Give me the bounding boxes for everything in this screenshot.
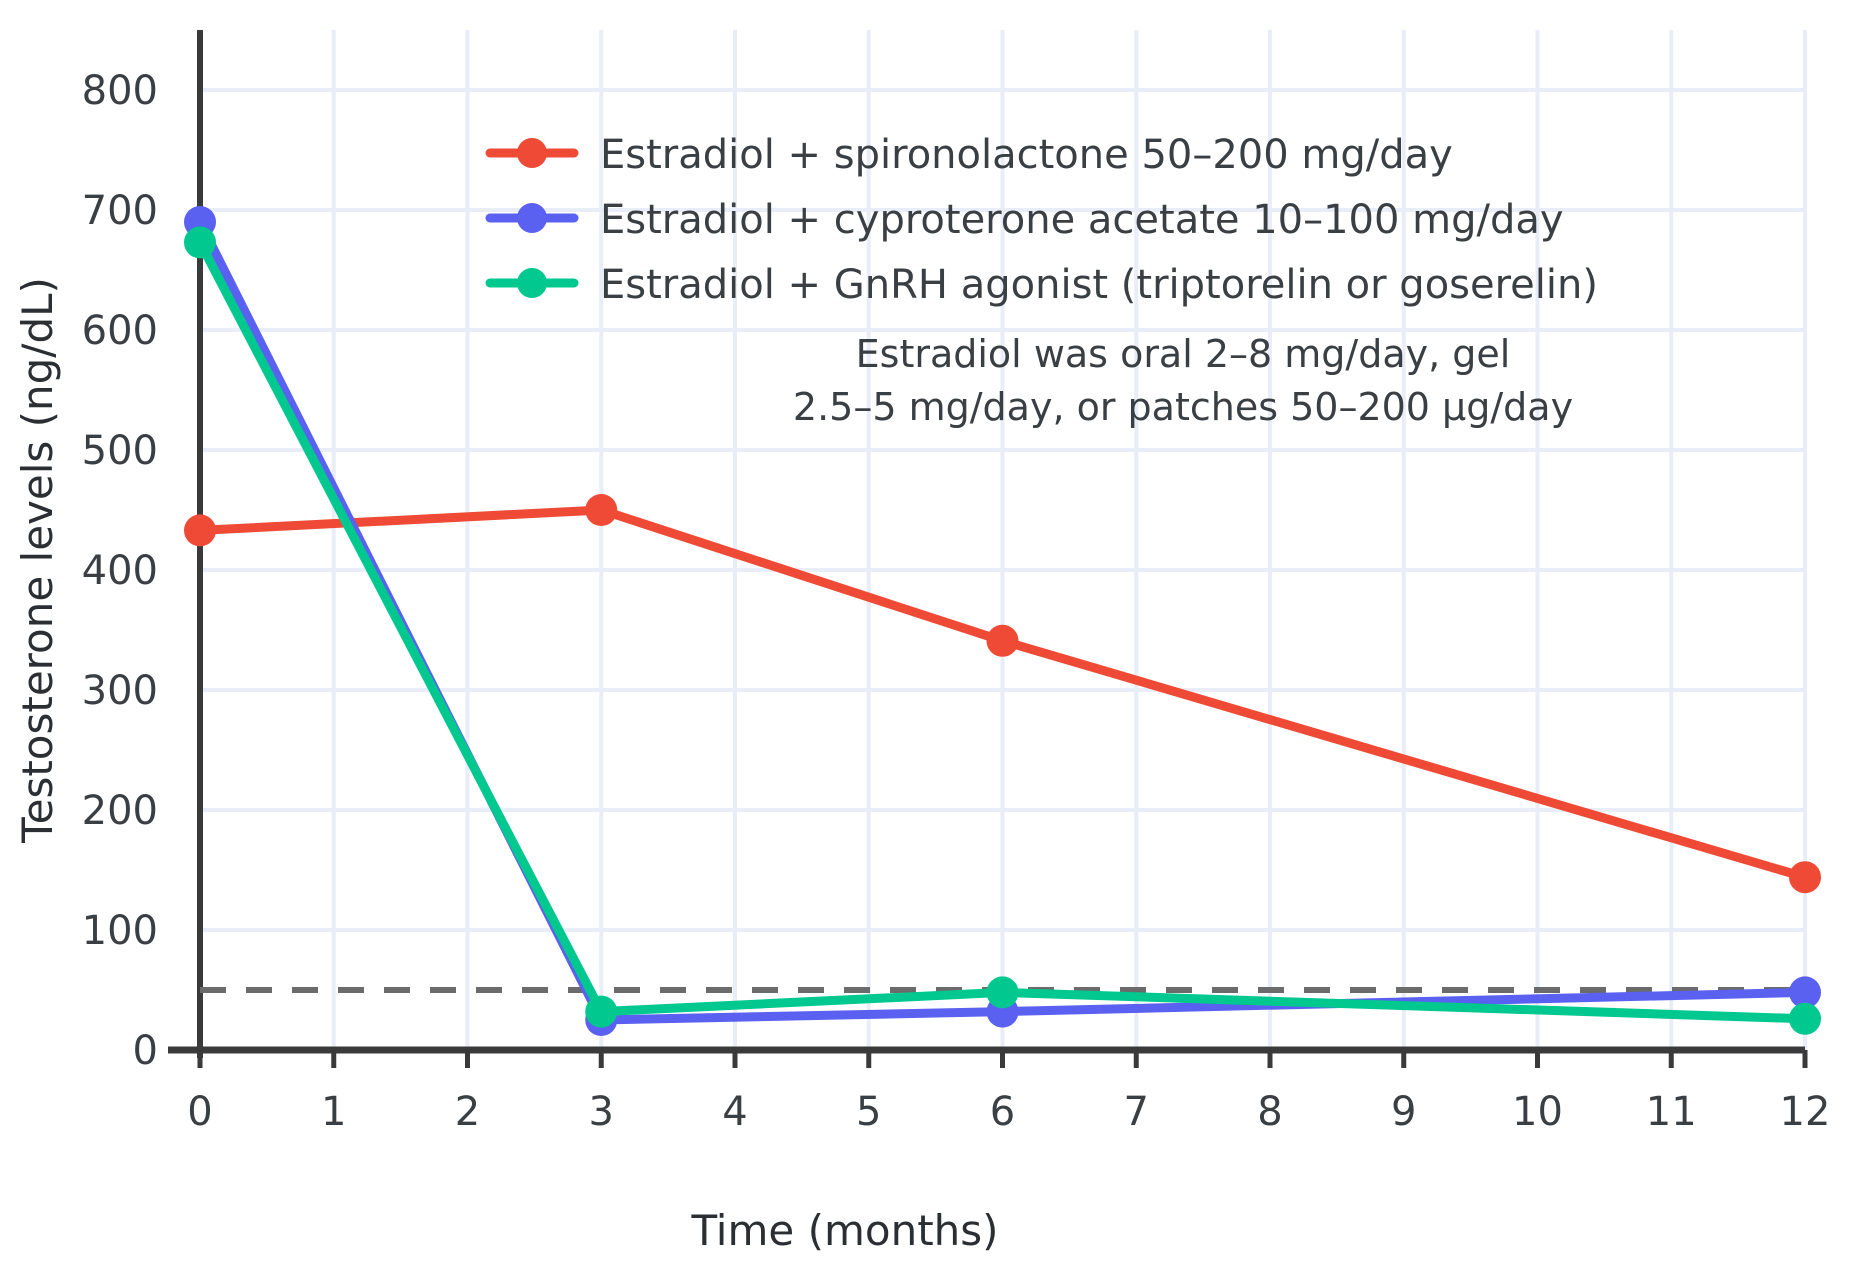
- y-tick-label: 800: [82, 68, 158, 114]
- x-tick-label: 6: [990, 1089, 1015, 1135]
- x-tick-label: 7: [1124, 1089, 1149, 1135]
- testosterone-line-chart: 0100200300400500600700800 01234567891011…: [0, 0, 1856, 1284]
- legend-swatch-marker-0: [517, 138, 547, 168]
- data-point-marker: [585, 494, 617, 526]
- legend-swatch-marker-1: [517, 203, 547, 233]
- x-tick-label: 11: [1646, 1089, 1697, 1135]
- y-tick-label: 600: [82, 308, 158, 354]
- legend-swatch-marker-2: [517, 268, 547, 298]
- x-tick-label: 0: [187, 1089, 212, 1135]
- data-point-marker: [987, 976, 1019, 1008]
- chart-legend: Estradiol + spironolactone 50–200 mg/day…: [490, 132, 1598, 308]
- x-tick-label: 9: [1391, 1089, 1416, 1135]
- data-point-marker: [184, 226, 216, 258]
- chart-background: [0, 0, 1856, 1284]
- y-tick-label: 400: [82, 548, 158, 594]
- legend-label-0: Estradiol + spironolactone 50–200 mg/day: [600, 132, 1453, 178]
- x-axis-title: Time (months): [690, 1206, 998, 1255]
- y-tick-label: 200: [82, 788, 158, 834]
- annotation-line-2: 2.5–5 mg/day, or patches 50–200 µg/day: [793, 385, 1573, 429]
- data-point-marker: [1789, 861, 1821, 893]
- data-point-marker: [987, 625, 1019, 657]
- x-tick-label: 12: [1780, 1089, 1831, 1135]
- data-point-marker: [585, 996, 617, 1028]
- x-tick-label: 10: [1512, 1089, 1563, 1135]
- data-point-marker: [184, 514, 216, 546]
- data-point-marker: [1789, 1003, 1821, 1035]
- y-axis-title: Testosterone levels (ng/dL): [13, 277, 62, 844]
- annotation-line-1: Estradiol was oral 2–8 mg/day, gel: [856, 332, 1511, 376]
- y-tick-label: 100: [82, 908, 158, 954]
- y-tick-label: 300: [82, 668, 158, 714]
- legend-label-1: Estradiol + cyproterone acetate 10–100 m…: [600, 197, 1564, 243]
- x-tick-label: 1: [321, 1089, 346, 1135]
- x-tick-label: 4: [722, 1089, 747, 1135]
- x-tick-label: 5: [856, 1089, 881, 1135]
- chart-canvas: 0100200300400500600700800 01234567891011…: [0, 0, 1856, 1284]
- y-axis-ticks: 0100200300400500600700800: [82, 68, 158, 1074]
- y-tick-label: 0: [133, 1028, 158, 1074]
- y-tick-label: 700: [82, 188, 158, 234]
- y-tick-label: 500: [82, 428, 158, 474]
- legend-label-2: Estradiol + GnRH agonist (triptorelin or…: [600, 262, 1598, 308]
- x-tick-label: 3: [589, 1089, 614, 1135]
- x-tick-label: 2: [455, 1089, 480, 1135]
- x-tick-label: 8: [1257, 1089, 1282, 1135]
